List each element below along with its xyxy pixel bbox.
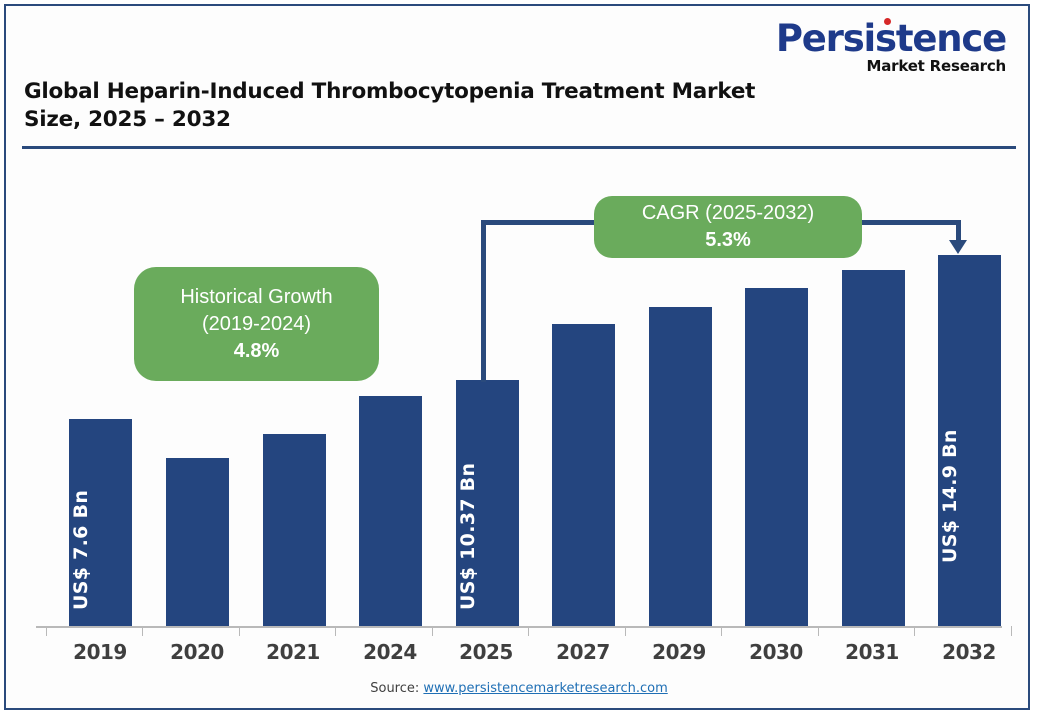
bar-value-label-2032: US$ 14.9 Bn [939, 429, 961, 563]
axis-tick [818, 626, 819, 636]
cagr-callout[interactable]: CAGR (2025-2032) 5.3% [594, 196, 862, 258]
cagr-title: CAGR (2025-2032) [642, 200, 814, 227]
x-axis-line [36, 626, 1002, 628]
bar-2021[interactable] [263, 434, 326, 626]
axis-tick [1011, 626, 1012, 636]
bar-chart-plot: US$ 7.6 Bn US$ 10.37 Bn US$ 14.9 Bn 2019… [6, 6, 1032, 712]
axis-tick [432, 626, 433, 636]
cagr-connector-vertical-right [956, 220, 961, 242]
source-line: Source: www.persistencemarketresearch.co… [6, 681, 1032, 696]
x-axis-label-2031: 2031 [824, 640, 920, 664]
bar-2029[interactable] [649, 307, 712, 626]
x-axis-label-2030: 2030 [728, 640, 824, 664]
bar-2020[interactable] [166, 458, 229, 626]
axis-tick [721, 626, 722, 636]
historical-growth-period: (2019-2024) [202, 311, 311, 338]
axis-tick [239, 626, 240, 636]
x-axis-label-2027: 2027 [535, 640, 631, 664]
x-axis-label-2019: 2019 [52, 640, 148, 664]
axis-tick [625, 626, 626, 636]
cagr-value: 5.3% [705, 227, 751, 254]
x-axis-label-2029: 2029 [631, 640, 727, 664]
axis-tick [46, 626, 47, 636]
x-axis-label-2020: 2020 [149, 640, 245, 664]
chart-frame: Persistence Market Research Global Hepar… [4, 4, 1030, 710]
historical-growth-title: Historical Growth [180, 284, 332, 311]
x-axis-label-2024: 2024 [342, 640, 438, 664]
bar-2031[interactable] [842, 270, 905, 626]
cagr-connector-arrowhead-icon [949, 240, 967, 254]
bar-value-label-2019: US$ 7.6 Bn [70, 490, 92, 610]
bar-2030[interactable] [745, 288, 808, 626]
cagr-connector-vertical-left [481, 220, 486, 382]
historical-growth-callout[interactable]: Historical Growth (2019-2024) 4.8% [134, 267, 379, 381]
bar-value-label-2025: US$ 10.37 Bn [457, 463, 479, 610]
axis-tick [335, 626, 336, 636]
x-axis-label-2021: 2021 [245, 640, 341, 664]
bar-2027[interactable] [552, 324, 615, 626]
x-axis-label-2025: 2025 [438, 640, 534, 664]
source-prefix-label: Source: [370, 681, 423, 696]
historical-growth-value: 4.8% [234, 338, 280, 365]
axis-tick [528, 626, 529, 636]
x-axis-label-2032: 2032 [921, 640, 1017, 664]
source-url-link[interactable]: www.persistencemarketresearch.com [423, 681, 667, 696]
axis-tick [142, 626, 143, 636]
bar-2024[interactable] [359, 396, 422, 626]
axis-tick [914, 626, 915, 636]
